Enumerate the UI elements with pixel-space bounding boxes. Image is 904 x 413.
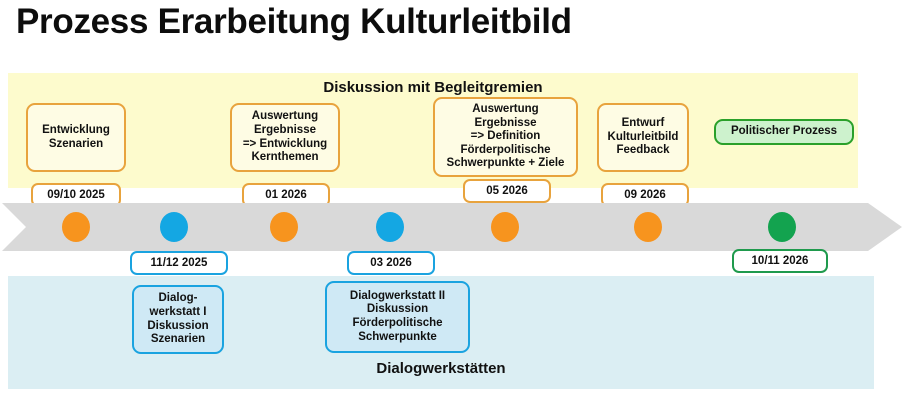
event-line: => Entwicklung bbox=[243, 138, 327, 152]
event-line: Dialog- bbox=[147, 292, 208, 306]
event-line: Kulturleitbild bbox=[608, 131, 679, 145]
date-chip-below[interactable]: 10/11 2026 bbox=[732, 249, 828, 273]
date-label: 09/10 2025 bbox=[47, 189, 105, 201]
event-box-auswertung-kernthemen[interactable]: Auswertung Ergebnisse => Entwicklung Ker… bbox=[230, 103, 340, 172]
event-line: Auswertung bbox=[447, 103, 565, 117]
event-line: Ergebnisse bbox=[243, 124, 327, 138]
event-line: Feedback bbox=[608, 144, 679, 158]
event-box-dialogwerkstatt-1[interactable]: Dialog- werkstatt I Diskussion Szenarien bbox=[132, 285, 224, 354]
event-line: Diskussion bbox=[147, 320, 208, 334]
date-chip-below[interactable]: 03 2026 bbox=[347, 251, 435, 275]
event-line: Ergebnisse bbox=[447, 117, 565, 131]
event-line: Entwurf bbox=[608, 117, 679, 131]
milestone-dot-orange[interactable] bbox=[634, 212, 662, 242]
milestone-dot-green[interactable] bbox=[768, 212, 796, 242]
date-label: 10/11 2026 bbox=[752, 255, 809, 267]
event-line: Auswertung bbox=[243, 110, 327, 124]
bottom-band-label: Dialogwerkstätten bbox=[8, 360, 874, 377]
date-label: 03 2026 bbox=[370, 257, 412, 269]
date-label: 11/12 2025 bbox=[151, 257, 208, 269]
timeline-arrow bbox=[2, 203, 902, 251]
event-line: Politischer Prozess bbox=[731, 125, 837, 139]
event-line: Diskussion bbox=[350, 303, 445, 317]
event-line: Entwicklung bbox=[42, 124, 110, 138]
event-box-auswertung-foerderpolitische[interactable]: Auswertung Ergebnisse => Definition Förd… bbox=[433, 97, 578, 177]
event-box-politischer-prozess[interactable]: Politischer Prozess bbox=[714, 119, 854, 145]
event-line: werkstatt I bbox=[147, 306, 208, 320]
milestone-dot-orange[interactable] bbox=[491, 212, 519, 242]
date-label: 01 2026 bbox=[265, 189, 307, 201]
date-chip-above[interactable]: 05 2026 bbox=[463, 179, 551, 203]
event-box-dialogwerkstatt-2[interactable]: Dialogwerkstatt II Diskussion Förderpoli… bbox=[325, 281, 470, 353]
milestone-dot-orange[interactable] bbox=[270, 212, 298, 242]
event-box-entwicklung-szenarien[interactable]: Entwicklung Szenarien bbox=[26, 103, 126, 172]
event-line: Schwerpunkte + Ziele bbox=[447, 157, 565, 171]
event-box-entwurf-kulturleitbild[interactable]: Entwurf Kulturleitbild Feedback bbox=[597, 103, 689, 172]
event-line: Szenarien bbox=[147, 333, 208, 347]
event-line: Schwerpunkte bbox=[350, 331, 445, 345]
page-title: Prozess Erarbeitung Kulturleitbild bbox=[16, 2, 572, 42]
event-line: Förderpolitische bbox=[350, 317, 445, 331]
event-line: Szenarien bbox=[42, 138, 110, 152]
event-line: Förderpolitische bbox=[447, 144, 565, 158]
date-label: 05 2026 bbox=[486, 185, 528, 197]
event-line: Dialogwerkstatt II bbox=[350, 290, 445, 304]
event-line: => Definition bbox=[447, 130, 565, 144]
diagram-canvas: Prozess Erarbeitung Kulturleitbild Disku… bbox=[0, 0, 904, 413]
date-label: 09 2026 bbox=[624, 189, 666, 201]
event-line: Kernthemen bbox=[243, 151, 327, 165]
milestone-dot-blue[interactable] bbox=[160, 212, 188, 242]
top-band-label: Diskussion mit Begleitgremien bbox=[8, 79, 858, 96]
milestone-dot-blue[interactable] bbox=[376, 212, 404, 242]
milestone-dot-orange[interactable] bbox=[62, 212, 90, 242]
date-chip-below[interactable]: 11/12 2025 bbox=[130, 251, 228, 275]
